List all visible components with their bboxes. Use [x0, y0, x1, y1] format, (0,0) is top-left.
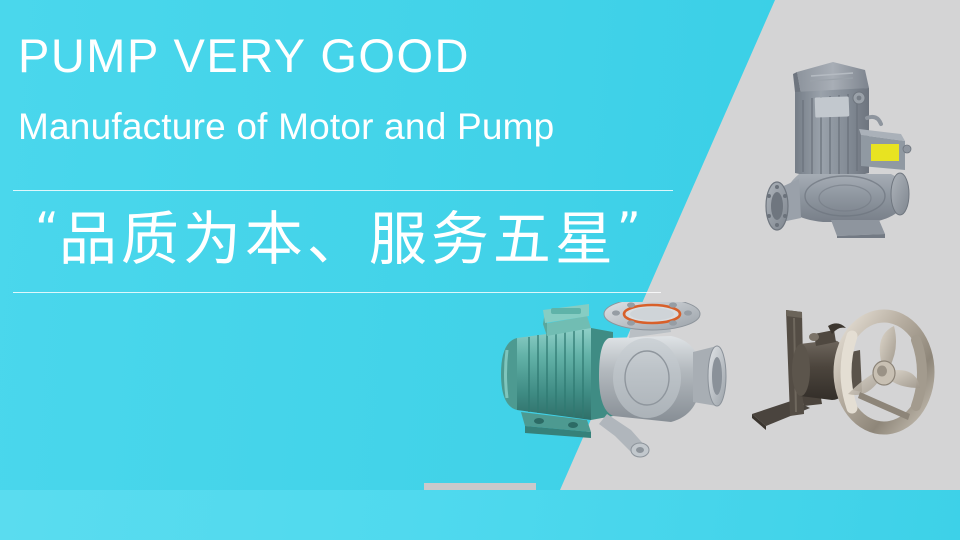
horizontal-pump-icon: [495, 302, 745, 467]
product-image-vertical-inline-pump: [755, 48, 935, 238]
promo-banner: PUMP VERY GOOD Manufacture of Motor and …: [0, 0, 960, 540]
product-image-submersible-mixer: [748, 296, 948, 461]
product-image-horizontal-centrifugal-pump: [495, 302, 745, 467]
carousel-progress-bar[interactable]: [424, 483, 536, 490]
vertical-pump-icon: [755, 48, 935, 238]
submersible-mixer-icon: [748, 296, 948, 461]
background-bottom-strip: [0, 490, 960, 540]
